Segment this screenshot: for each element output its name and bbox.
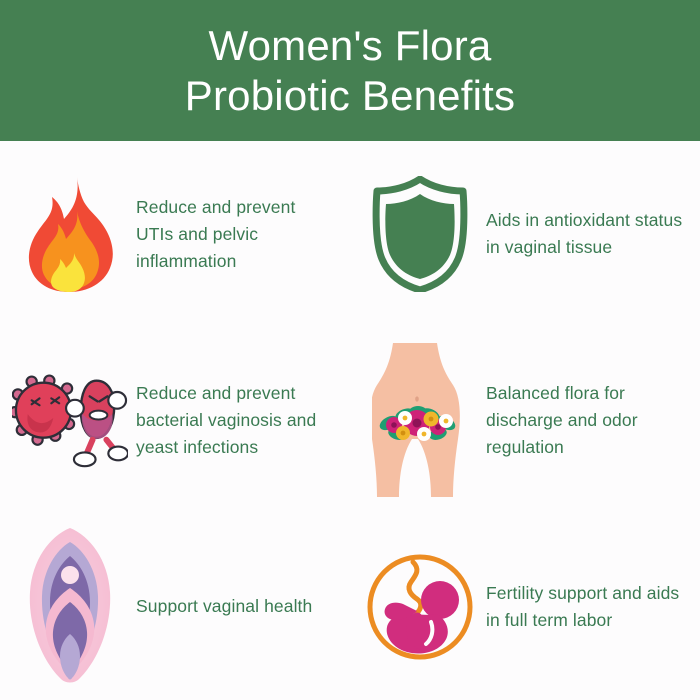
benefit-item-vaginal-health: Support vaginal health [0,513,350,700]
infographic-page: Women's Flora Probiotic Benefits Reduce … [0,0,700,700]
benefit-text-uti: Reduce and prevent UTIs and pelvic infla… [128,194,336,275]
germ-fight-icon [12,365,128,475]
torso-flowers-icon [362,340,478,500]
page-title-line-2: Probiotic Benefits [185,71,515,121]
benefits-grid: Reduce and prevent UTIs and pelvic infla… [0,141,700,700]
benefit-item-fertility: Fertility support and aids in full term … [350,513,700,700]
flame-icon [12,169,128,299]
benefit-item-uti: Reduce and prevent UTIs and pelvic infla… [0,141,350,327]
benefit-item-antioxidant: Aids in antioxidant status in vaginal ti… [350,141,700,327]
benefit-text-bacterial-vaginosis: Reduce and prevent bacterial vaginosis a… [128,380,336,461]
vulva-anatomy-icon [12,524,128,689]
benefit-text-antioxidant: Aids in antioxidant status in vaginal ti… [478,207,686,261]
fetus-circle-icon [362,544,478,669]
header-banner: Women's Flora Probiotic Benefits [0,0,700,141]
page-title-line-1: Women's Flora [209,21,492,71]
shield-icon [362,169,478,299]
benefit-text-balanced-flora: Balanced flora for discharge and odor re… [478,380,686,461]
benefit-text-vaginal-health: Support vaginal health [128,593,312,620]
benefit-text-fertility: Fertility support and aids in full term … [478,580,686,634]
benefit-item-bacterial-vaginosis: Reduce and prevent bacterial vaginosis a… [0,327,350,513]
benefit-item-balanced-flora: Balanced flora for discharge and odor re… [350,327,700,513]
